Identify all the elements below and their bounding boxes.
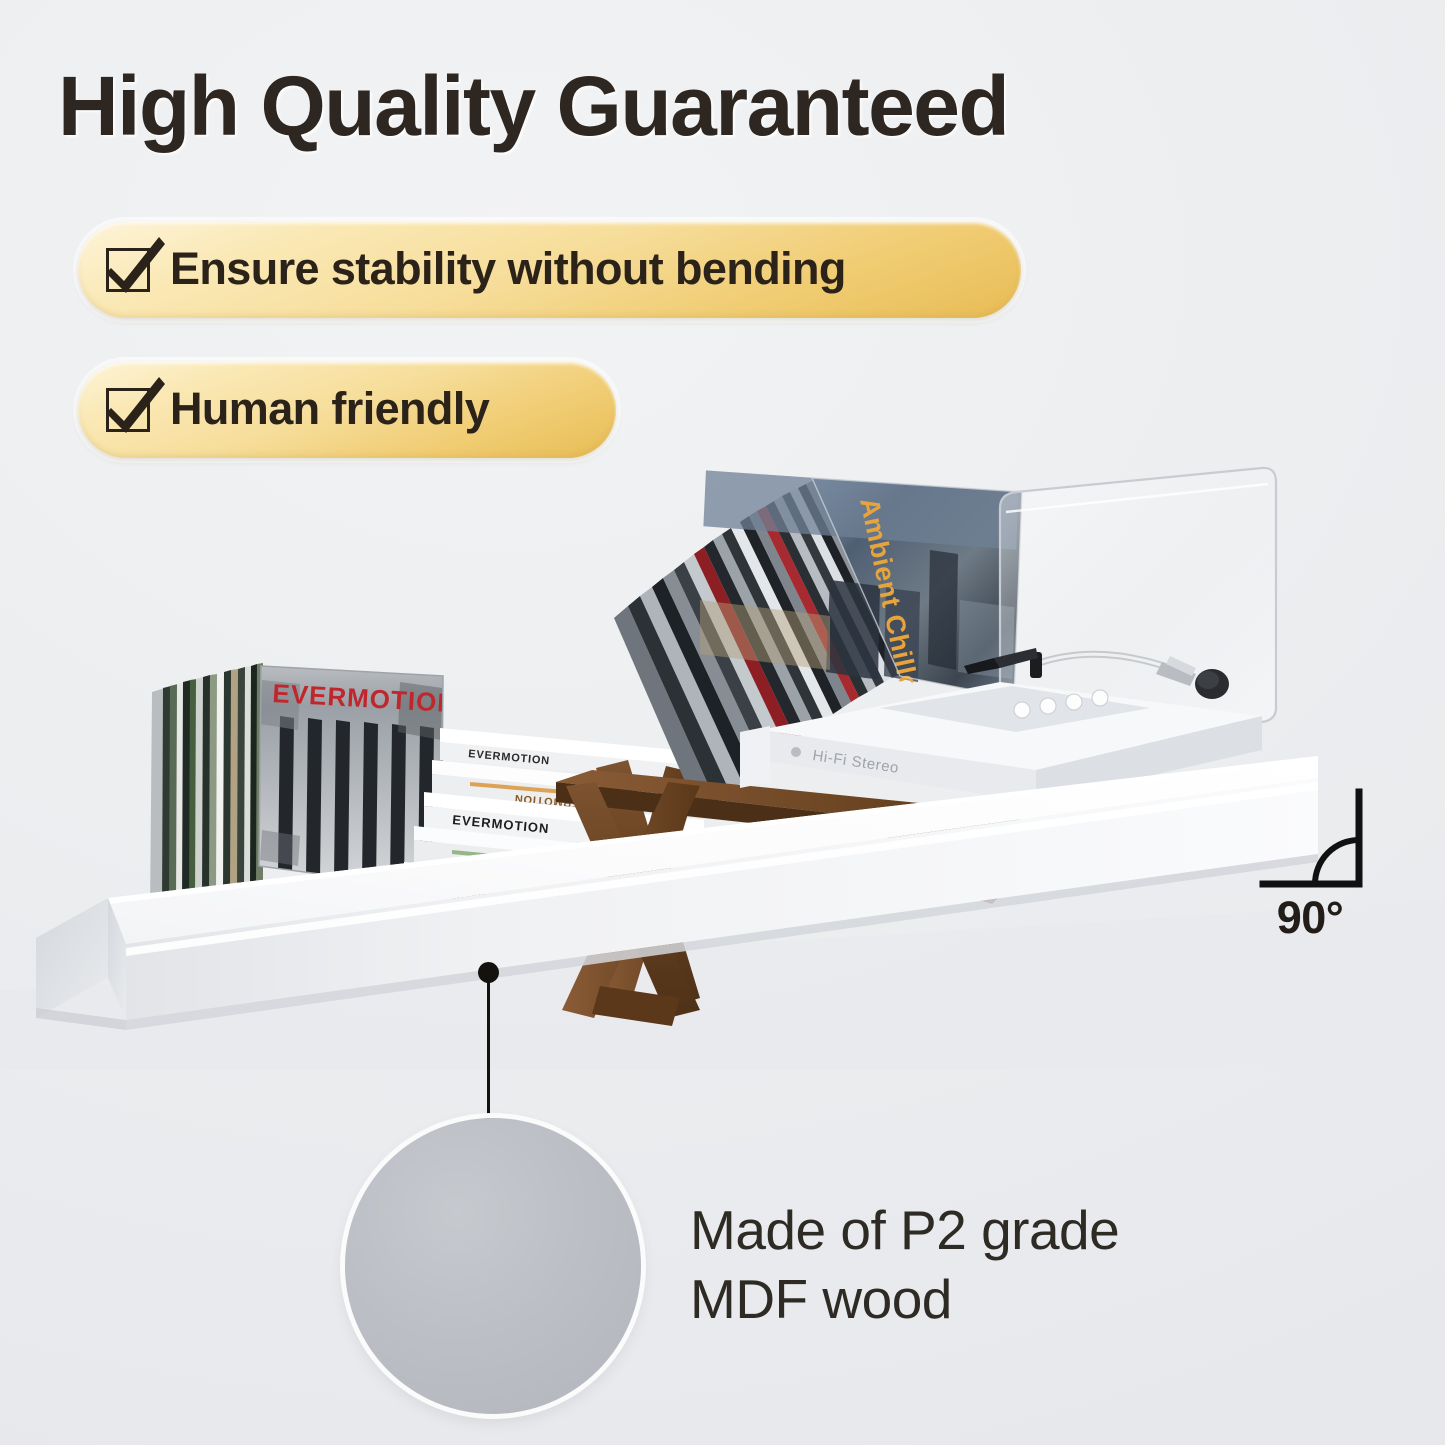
feature-badge-label: Ensure stability without bending [170,246,846,294]
angle-label: 90° [1255,892,1365,944]
checkbox-checked-icon [106,388,150,432]
checkbox-checked-icon [106,248,150,292]
product-photo-shelf-scene: EVERMOTION RECORDS EVERMOTION EVERMO [0,430,1445,1070]
material-line-1: Made of P2 grade [690,1196,1119,1265]
feature-badge-label: Human friendly [170,386,489,434]
right-angle-icon [1255,788,1375,898]
product-feature-graphic: High Quality Guaranteed Ensure stability… [0,0,1445,1445]
callout-leader-line [487,978,490,1126]
material-description: Made of P2 grade MDF wood [690,1196,1119,1334]
right-angle-callout: 90° [1255,788,1375,948]
acrylic-dust-cover [1000,468,1276,726]
mdf-wood-swatch [345,1118,641,1414]
page-title: High Quality Guaranteed [58,62,1358,150]
material-line-2: MDF wood [690,1265,1119,1334]
feature-badge-stability: Ensure stability without bending [78,222,1021,318]
